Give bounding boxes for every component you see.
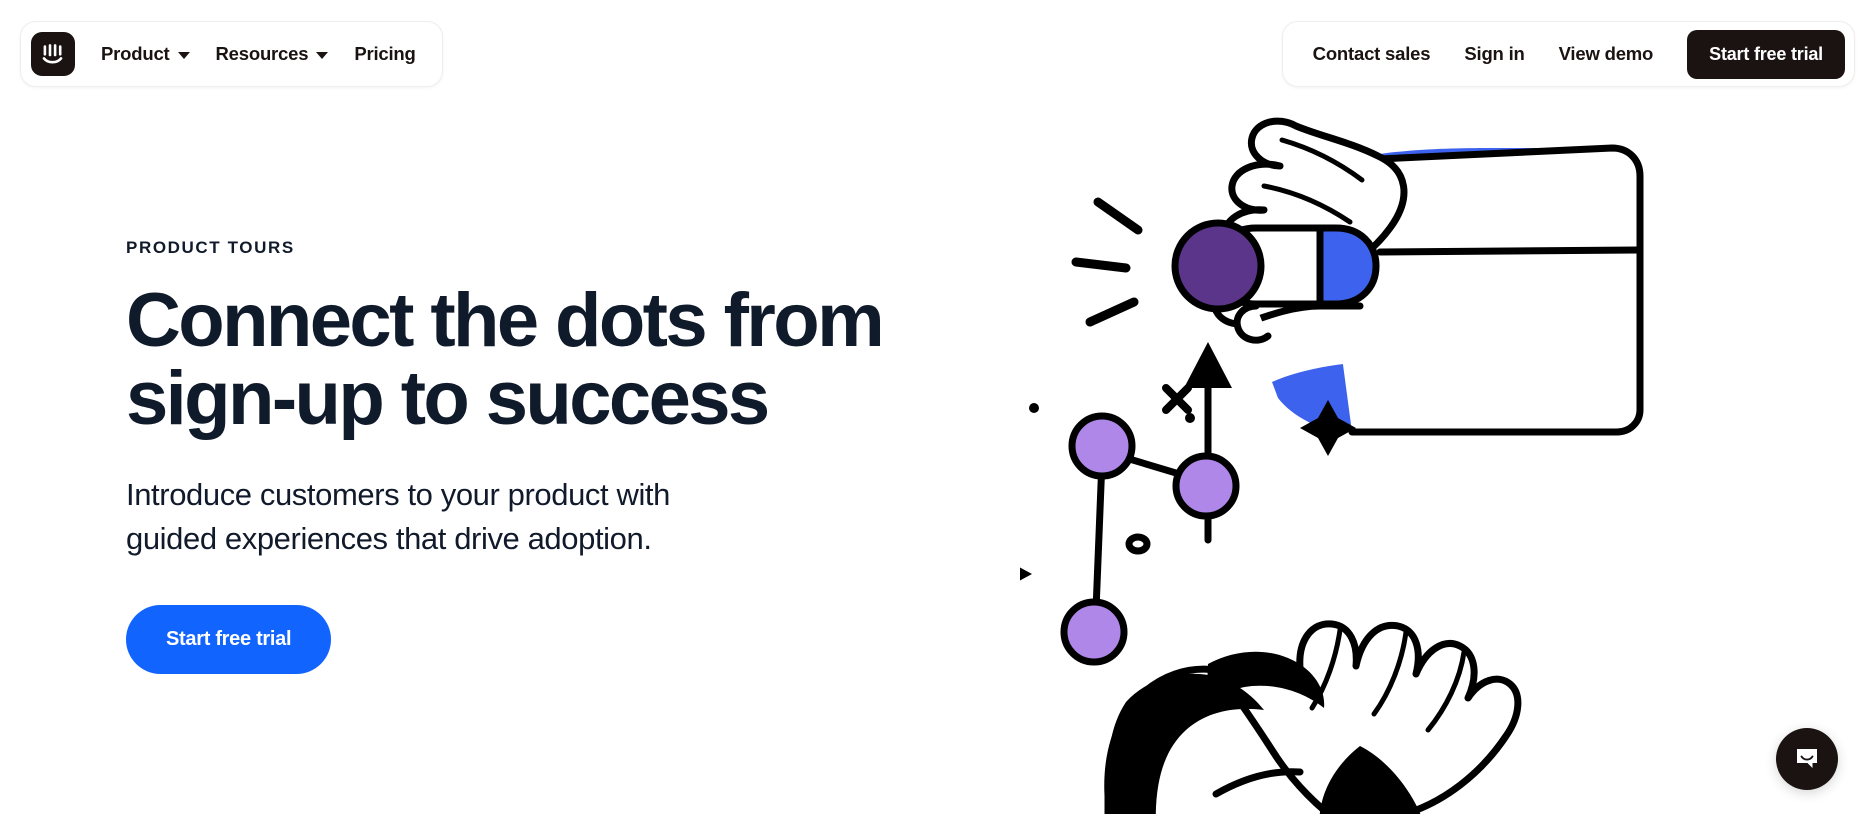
hero-start-free-trial-button[interactable]: Start free trial (126, 605, 331, 674)
nav-item-pricing[interactable]: Pricing (354, 43, 415, 65)
hero-subtitle: Introduce customers to your product with… (126, 473, 886, 561)
nav-item-product-label: Product (101, 43, 170, 65)
hero-subtitle-line-1: Introduce customers to your product with (126, 477, 670, 512)
intercom-logo-icon[interactable] (31, 32, 75, 76)
hero-eyebrow: PRODUCT TOURS (126, 238, 1006, 258)
chevron-down-icon (316, 52, 328, 59)
intercom-messenger-launcher[interactable] (1776, 728, 1838, 790)
nav-item-resources-label: Resources (216, 43, 309, 65)
site-header: Product Resources Pricing Contact sales … (0, 21, 1875, 91)
nav-start-free-trial-button[interactable]: Start free trial (1687, 30, 1845, 79)
connect-the-dots-hands-illustration (1020, 110, 1800, 814)
hero-content: PRODUCT TOURS Connect the dots from sign… (126, 238, 1006, 674)
nav-item-pricing-label: Pricing (354, 43, 415, 65)
primary-nav: Product Resources Pricing (20, 21, 443, 87)
nav-item-product[interactable]: Product (101, 43, 190, 65)
chat-bubble-icon (1792, 744, 1822, 774)
secondary-nav: Contact sales Sign in View demo Start fr… (1282, 21, 1855, 87)
chevron-down-icon (178, 52, 190, 59)
nav-item-sign-in[interactable]: Sign in (1464, 43, 1524, 65)
nav-item-resources[interactable]: Resources (216, 43, 329, 65)
hero-title-line-2: sign-up to success (126, 356, 768, 441)
nav-item-view-demo[interactable]: View demo (1559, 43, 1654, 65)
hero-page: Product Resources Pricing Contact sales … (0, 0, 1875, 814)
hero-subtitle-line-2: guided experiences that drive adoption. (126, 521, 652, 556)
hero-title-line-1: Connect the dots from (126, 278, 882, 363)
nav-item-contact-sales[interactable]: Contact sales (1313, 43, 1431, 65)
page-title: Connect the dots from sign-up to success (126, 282, 986, 439)
